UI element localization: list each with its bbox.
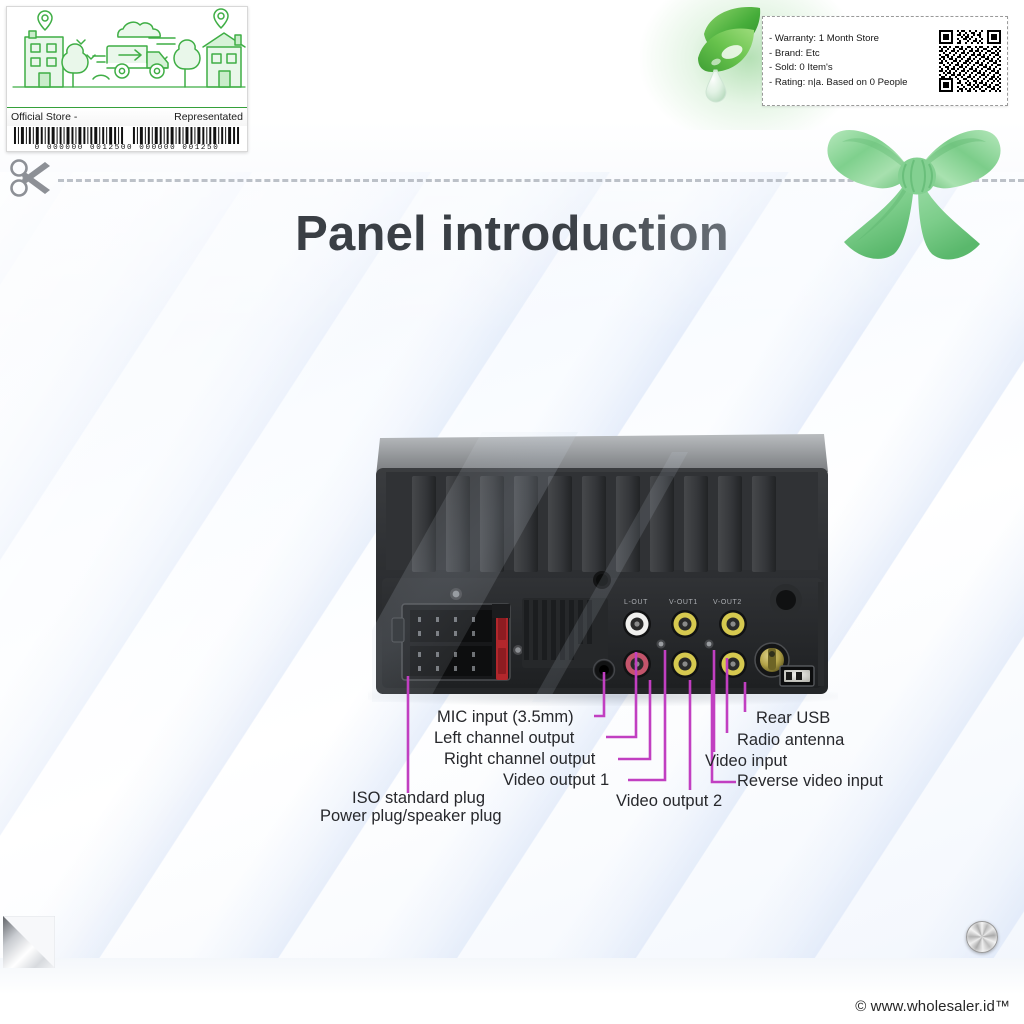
product-listing-image: Official Store - Representated	[0, 0, 1024, 1024]
callout-video-output-1: Video output 1	[503, 771, 609, 789]
callout-video-input: Video input	[705, 752, 787, 770]
footer-copyright: © www.wholesaler.id™	[855, 998, 1010, 1015]
callout-iso-standard-plug: ISO standard plug	[352, 789, 485, 807]
callout-radio-antenna: Radio antenna	[737, 731, 844, 749]
callout-right-channel: Right channel output	[444, 750, 595, 768]
callout-rear-usb: Rear USB	[756, 709, 830, 727]
callout-video-output-2: Video output 2	[616, 792, 722, 810]
callout-labels: MIC input (3.5mm) Left channel output Ri…	[0, 0, 1024, 1024]
callout-left-channel: Left channel output	[434, 729, 574, 747]
callout-power-speaker-plug: Power plug/speaker plug	[320, 807, 502, 825]
metal-knob	[966, 921, 998, 953]
callout-mic-input: MIC input (3.5mm)	[437, 708, 574, 726]
callout-reverse-video-input: Reverse video input	[737, 772, 883, 790]
page-curl-corner	[3, 916, 55, 968]
